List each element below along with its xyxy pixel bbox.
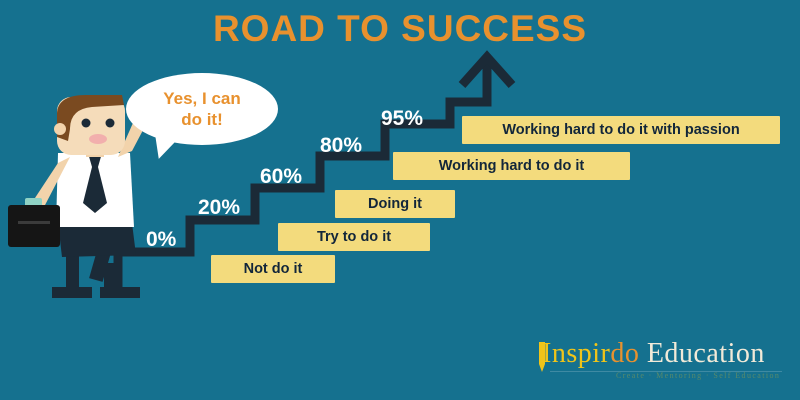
step-label-not-do-it: Not do it bbox=[211, 255, 335, 283]
percent-label-80: 80% bbox=[320, 134, 362, 158]
cheek-blush bbox=[89, 134, 107, 144]
logo-text-part1: Inspir bbox=[542, 338, 610, 369]
speech-bubble: Yes, I can do it! bbox=[126, 73, 278, 145]
percent-label-60: 60% bbox=[260, 165, 302, 189]
percent-label-0: 0% bbox=[146, 228, 176, 252]
briefcase-clasp bbox=[18, 221, 50, 224]
step-label-working-hard-passion: Working hard to do it with passion bbox=[462, 116, 780, 144]
briefcase bbox=[8, 205, 60, 247]
eye-left bbox=[82, 119, 91, 128]
percent-label-95: 95% bbox=[381, 107, 423, 131]
logo-tagline: Create · Mentoring · Self Education bbox=[616, 371, 780, 380]
logo-text-part3: Education bbox=[639, 338, 765, 369]
step-label-try-to-do-it: Try to do it bbox=[278, 223, 430, 251]
logo-text-part2: do bbox=[610, 338, 639, 369]
step-label-working-hard: Working hard to do it bbox=[393, 152, 630, 180]
speech-bubble-line-2: do it! bbox=[181, 109, 223, 130]
step-label-doing-it: Doing it bbox=[335, 190, 455, 218]
percent-label-20: 20% bbox=[198, 196, 240, 220]
brand-logo[interactable]: Inspirdo Education Create · Mentoring · … bbox=[520, 338, 790, 390]
infographic-poster: ROAD TO SUCCESS bbox=[0, 0, 800, 400]
shoe-front bbox=[100, 287, 140, 298]
logo-wordmark: Inspirdo Education bbox=[542, 338, 765, 370]
eye-right bbox=[106, 119, 115, 128]
shoe-back bbox=[52, 287, 92, 298]
ear bbox=[54, 123, 66, 135]
trousers bbox=[58, 223, 136, 257]
speech-bubble-line-1: Yes, I can bbox=[163, 88, 241, 109]
